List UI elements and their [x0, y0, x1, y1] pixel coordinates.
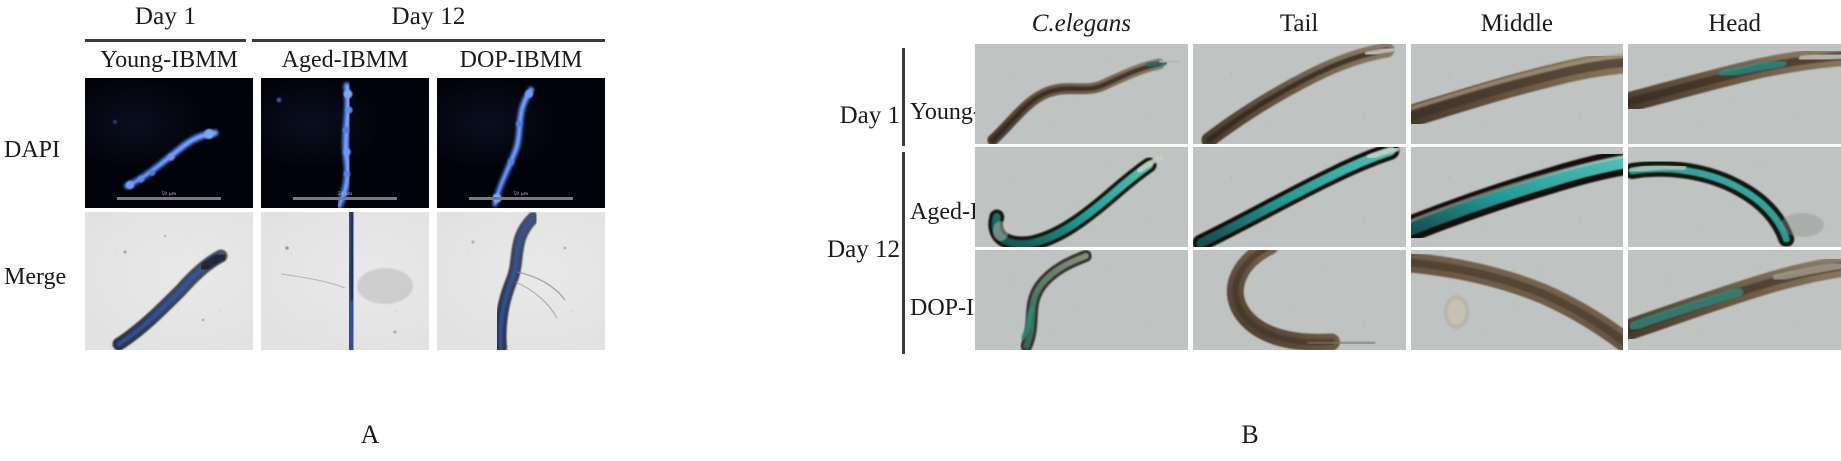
dapi-dop-image: 50 µm	[437, 78, 605, 208]
panel-a: Day 1 Day 12 Young-IBMM Aged-IBMM DOP-IB…	[0, 0, 700, 461]
dapi-aged-scale-bar-label: 50 µm	[338, 192, 353, 197]
panel-a-day-group-2-label: Day 12	[252, 2, 605, 32]
panel-a-day-group-1-label: Day 1	[85, 2, 246, 32]
dapi-young-image: 50 µm	[85, 78, 253, 208]
panel-a-day-group-2: Day 12	[252, 2, 605, 44]
merge-young-image	[85, 212, 253, 350]
dapi-young-scale-bar-label: 50 µm	[162, 192, 177, 197]
panel-b-cell-young-celegans	[975, 44, 1188, 144]
panel-a-cell-merge-aged	[261, 212, 429, 350]
panel-a-row-dapi: 50 µm	[85, 78, 605, 208]
panel-b-cell-young-tail	[1193, 44, 1406, 144]
panel-b-column-header-tail: Tail	[1193, 6, 1406, 44]
panel-a-row-merge	[85, 212, 605, 350]
panel-a-image-grid: 50 µm	[85, 78, 605, 350]
panel-b-cell-dop-celegans	[975, 250, 1188, 350]
panel-a-cell-merge-dop	[437, 212, 605, 350]
panel-b-column-header-celegans: C.elegans	[975, 6, 1188, 44]
dapi-dop-scale-bar	[469, 197, 573, 200]
panel-b-cell-young-head	[1628, 44, 1841, 144]
panel-a-row-label-dapi: DAPI	[4, 136, 84, 164]
dapi-dop-worm-icon	[437, 78, 605, 208]
panel-b-row-young	[975, 44, 1841, 144]
panel-b-day-labels: Day 1 Day 12	[790, 45, 900, 353]
panel-b-divider-day12	[902, 152, 905, 354]
young-middle-icon	[1411, 44, 1624, 144]
figure-root: Day 1 Day 12 Young-IBMM Aged-IBMM DOP-IB…	[0, 0, 1841, 461]
merge-aged-worm-icon	[261, 212, 429, 350]
panel-a-cell-dapi-dop: 50 µm	[437, 78, 605, 208]
panel-b-column-header-head: Head	[1628, 6, 1841, 44]
merge-dop-worm-icon	[437, 212, 605, 350]
aged-tail-icon	[1193, 147, 1406, 247]
panel-b-cell-aged-middle	[1411, 147, 1624, 247]
dapi-aged-image: 50 µm	[261, 78, 429, 208]
young-head-icon	[1628, 44, 1841, 144]
panel-b-cell-dop-head	[1628, 250, 1841, 350]
dop-tail-icon	[1193, 250, 1406, 350]
panel-a-row-label-merge: Merge	[4, 263, 84, 291]
panel-b-cell-dop-middle	[1411, 250, 1624, 350]
young-whole-worm-icon	[975, 44, 1188, 144]
panel-b-cell-young-middle	[1411, 44, 1624, 144]
panel-a-day-group-header: Day 1 Day 12	[85, 2, 605, 44]
dapi-young-worm-icon	[85, 78, 253, 208]
panel-a-column-headers: Young-IBMM Aged-IBMM DOP-IBMM	[85, 44, 605, 78]
panel-b-column-header-middle: Middle	[1411, 6, 1624, 44]
panel-a-cell-dapi-aged: 50 µm	[261, 78, 429, 208]
panel-b-cell-dop-tail	[1193, 250, 1406, 350]
dop-whole-worm-icon	[975, 250, 1188, 350]
panel-b-treatment-labels: Young-IBMM Aged-IBMM DOP-IBMM	[910, 45, 976, 353]
panel-a-column-header-young: Young-IBMM	[85, 44, 253, 78]
panel-b-image-grid	[975, 44, 1841, 354]
merge-young-worm-icon	[85, 212, 253, 350]
dapi-aged-scale-bar	[293, 197, 397, 200]
dop-middle-icon	[1411, 250, 1624, 350]
panel-a-cell-merge-young	[85, 212, 253, 350]
aged-whole-worm-icon	[975, 147, 1188, 247]
panel-b-row-aged	[975, 147, 1841, 247]
panel-b-letter: B	[1220, 420, 1280, 450]
panel-b-day-label-day1: Day 1	[790, 101, 900, 131]
panel-a-column-header-dop: DOP-IBMM	[437, 44, 605, 78]
panel-b-cell-aged-tail	[1193, 147, 1406, 247]
merge-aged-image	[261, 212, 429, 350]
panel-a-row-labels: DAPI Merge	[0, 78, 84, 350]
dapi-aged-worm-icon	[261, 78, 429, 208]
panel-b-column-headers: C.elegans Tail Middle Head	[975, 6, 1841, 44]
panel-b-cell-aged-head	[1628, 147, 1841, 247]
dapi-young-scale-bar	[117, 197, 221, 200]
panel-a-letter: A	[340, 420, 400, 450]
aged-head-icon	[1628, 147, 1841, 247]
panel-a-cell-dapi-young: 50 µm	[85, 78, 253, 208]
panel-b: C.elegans Tail Middle Head Day 1 Day 12 …	[700, 0, 1841, 461]
aged-middle-icon	[1411, 147, 1624, 247]
panel-a-column-header-aged: Aged-IBMM	[261, 44, 429, 78]
panel-b-cell-aged-celegans	[975, 147, 1188, 247]
panel-b-row-dop	[975, 250, 1841, 350]
panel-a-day-group-1: Day 1	[85, 2, 246, 44]
panel-a-day-group-2-rule	[252, 39, 605, 42]
dapi-dop-scale-bar-label: 50 µm	[514, 192, 529, 197]
panel-a-day-group-1-rule	[85, 39, 246, 42]
dop-head-icon	[1628, 250, 1841, 350]
merge-dop-image	[437, 212, 605, 350]
young-tail-icon	[1193, 44, 1406, 144]
panel-b-divider-day1	[902, 48, 905, 146]
panel-b-day-label-day12: Day 12	[790, 235, 900, 265]
